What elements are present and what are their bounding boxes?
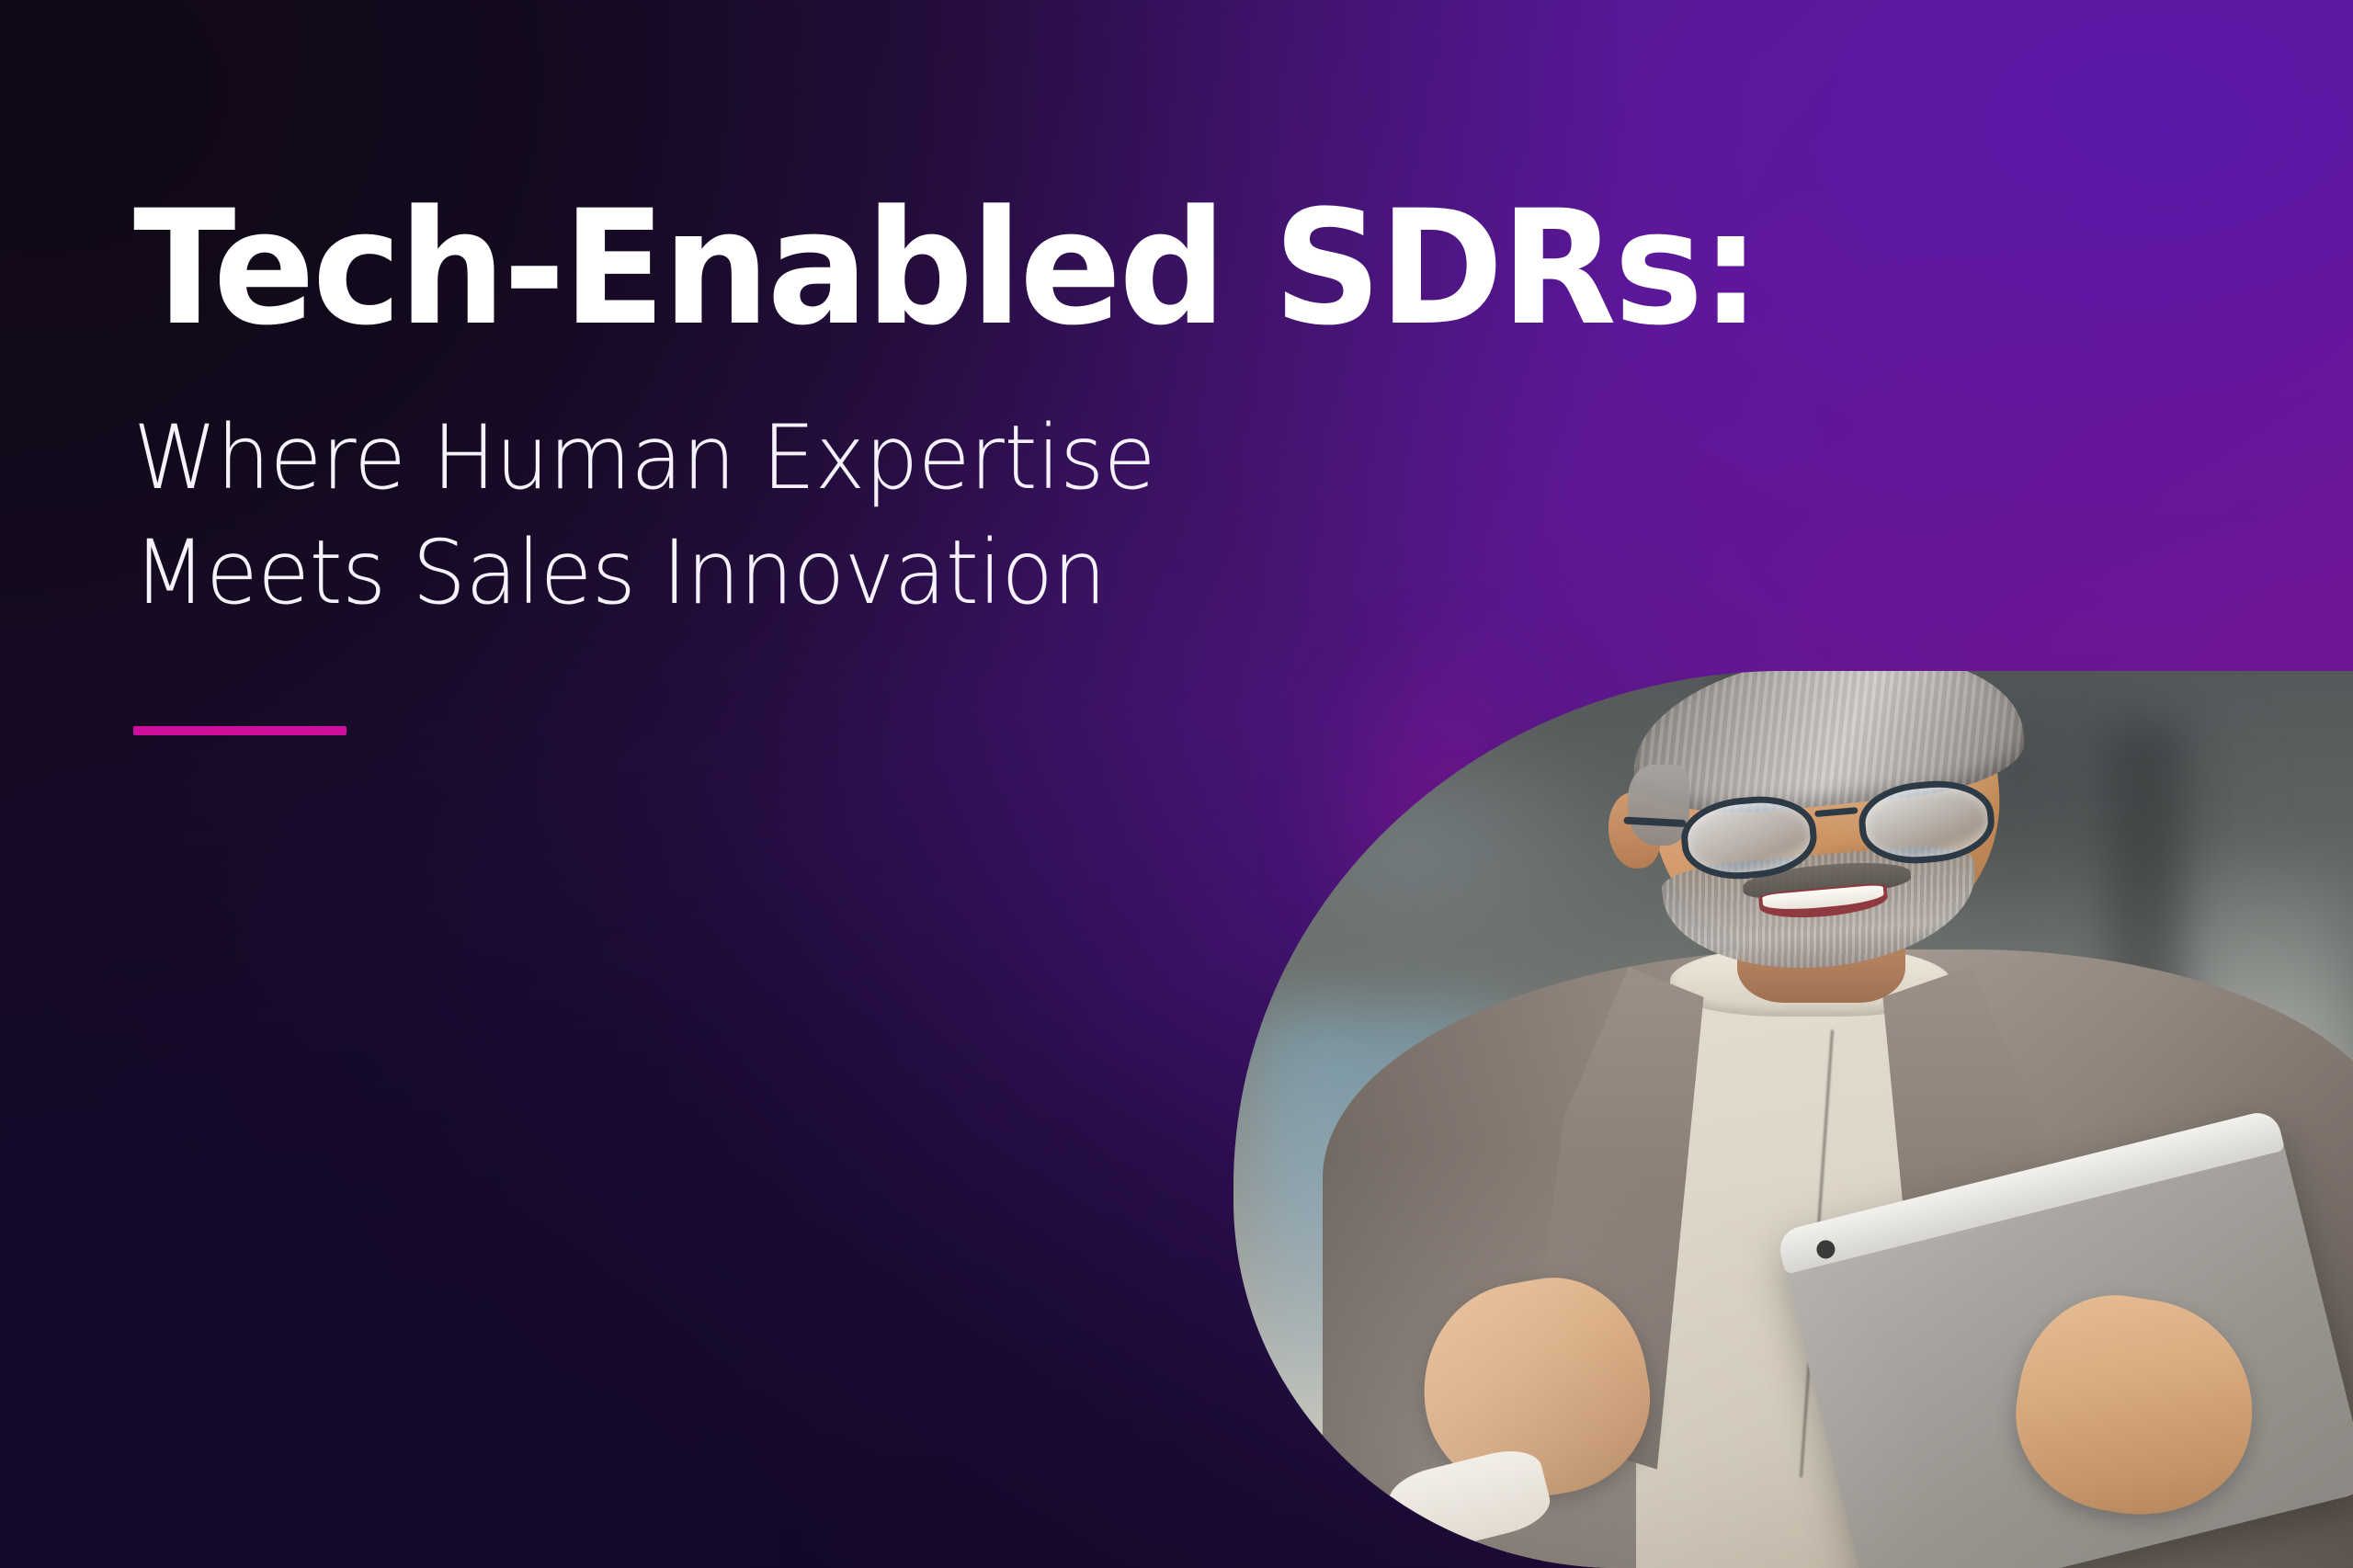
subtitle-line-2: Meets Sales Innovation [133, 516, 1369, 631]
eyeglass-lens-right [1857, 776, 1998, 868]
banner-copy: Tech-Enabled SDRs: Where Human Expertise… [133, 189, 1420, 735]
eyeglass-bridge [1814, 807, 1859, 817]
page-title: Tech-Enabled SDRs: [133, 189, 1356, 347]
accent-rule [133, 726, 347, 735]
subtitle-line-1: Where Human Expertise [133, 401, 1369, 516]
subtitle: Where Human Expertise Meets Sales Innova… [133, 347, 1369, 631]
hero-photo [1233, 671, 2353, 1568]
marketing-banner: Tech-Enabled SDRs: Where Human Expertise… [0, 0, 2353, 1568]
eyeglass-lens-left [1678, 791, 1820, 883]
businessman-figure [1233, 671, 2353, 1568]
hero-photo-image [1233, 671, 2353, 1568]
